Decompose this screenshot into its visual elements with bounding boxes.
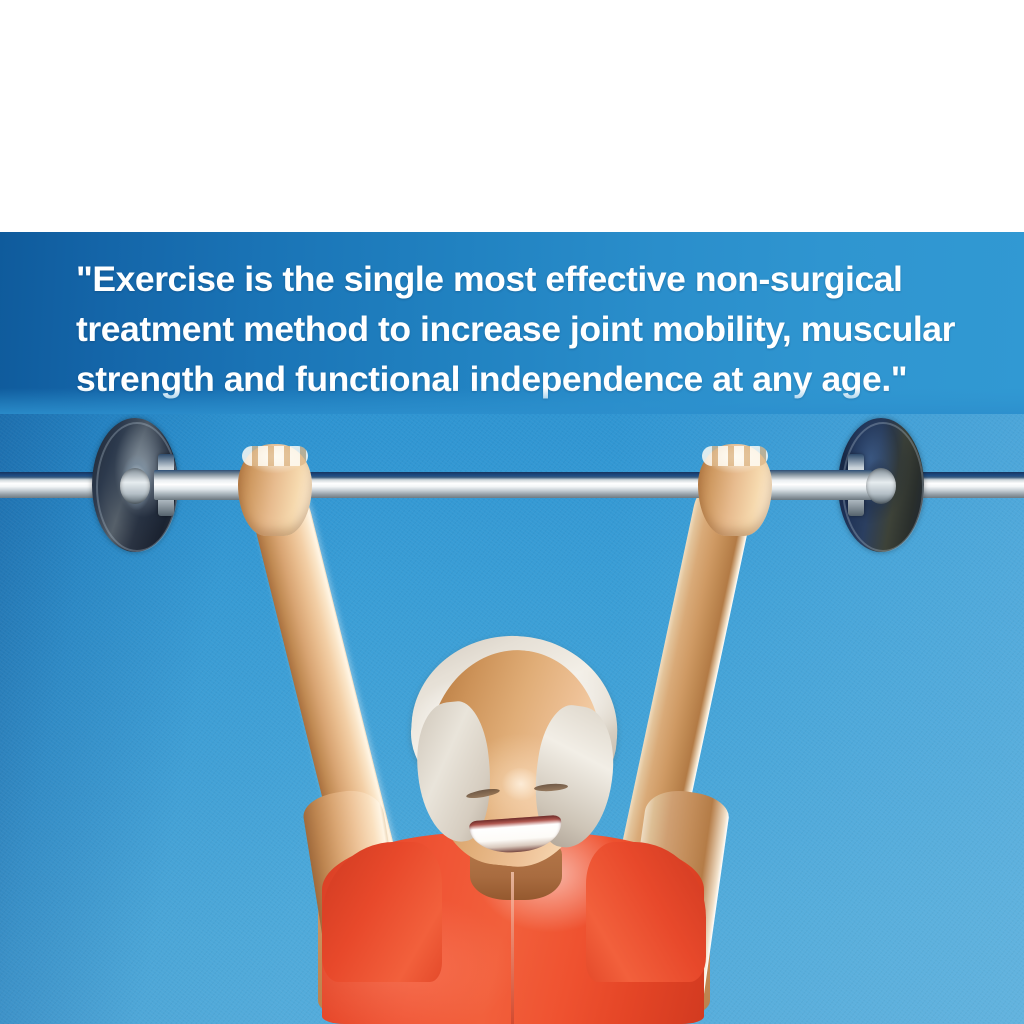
quote-text: "Exercise is the single most effective n… bbox=[76, 254, 966, 404]
quote-banner: "Exercise is the single most effective n… bbox=[0, 232, 1024, 414]
top-white-margin bbox=[0, 0, 1024, 232]
right-hand-knuckles bbox=[702, 446, 768, 466]
left-hand-knuckles bbox=[242, 446, 308, 466]
promo-image-canvas: "Exercise is the single most effective n… bbox=[0, 0, 1024, 1024]
